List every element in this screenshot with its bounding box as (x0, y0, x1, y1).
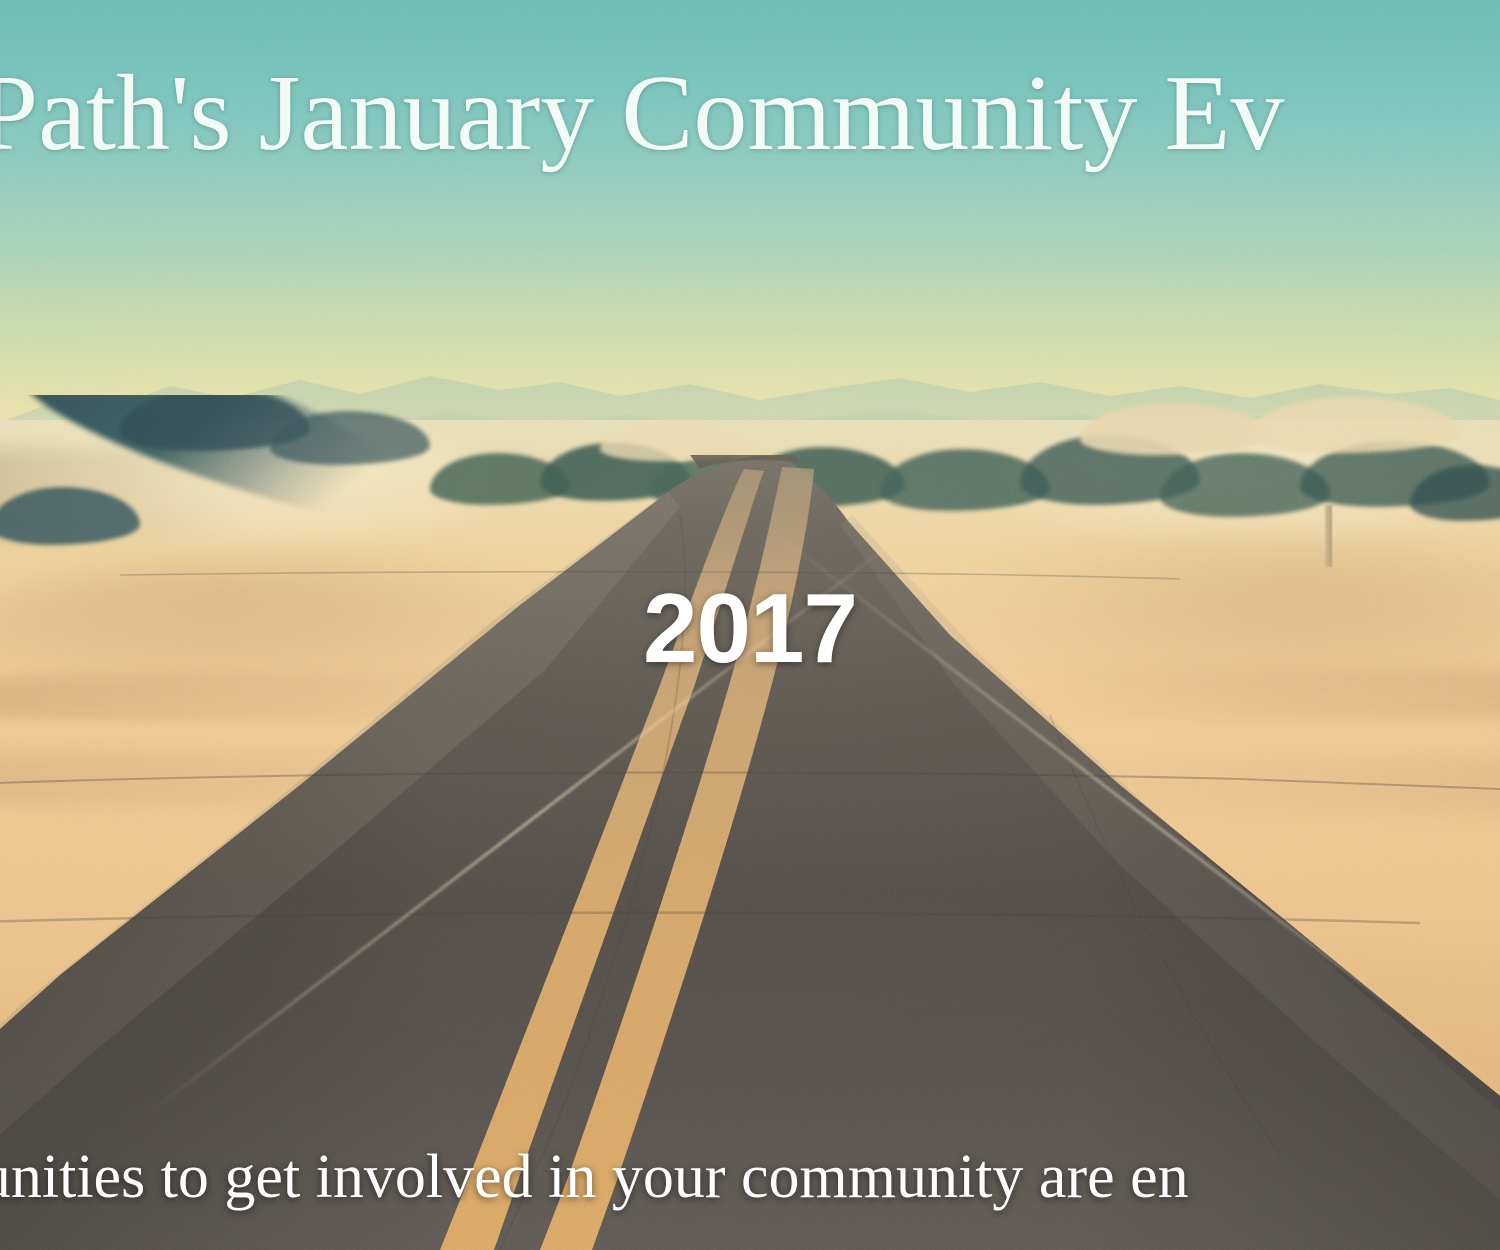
year-label: 2017 (0, 572, 1500, 685)
dune-hummock-right-2 (1250, 397, 1460, 453)
dune-hummock-right-1 (1080, 403, 1270, 455)
page-title: Path's January Community Ev (0, 52, 1500, 176)
subtitle-text: rtunities to get involved in your commun… (0, 1142, 1500, 1213)
community-events-banner: Path's January Community Ev 2017 rtuniti… (0, 0, 1500, 1250)
